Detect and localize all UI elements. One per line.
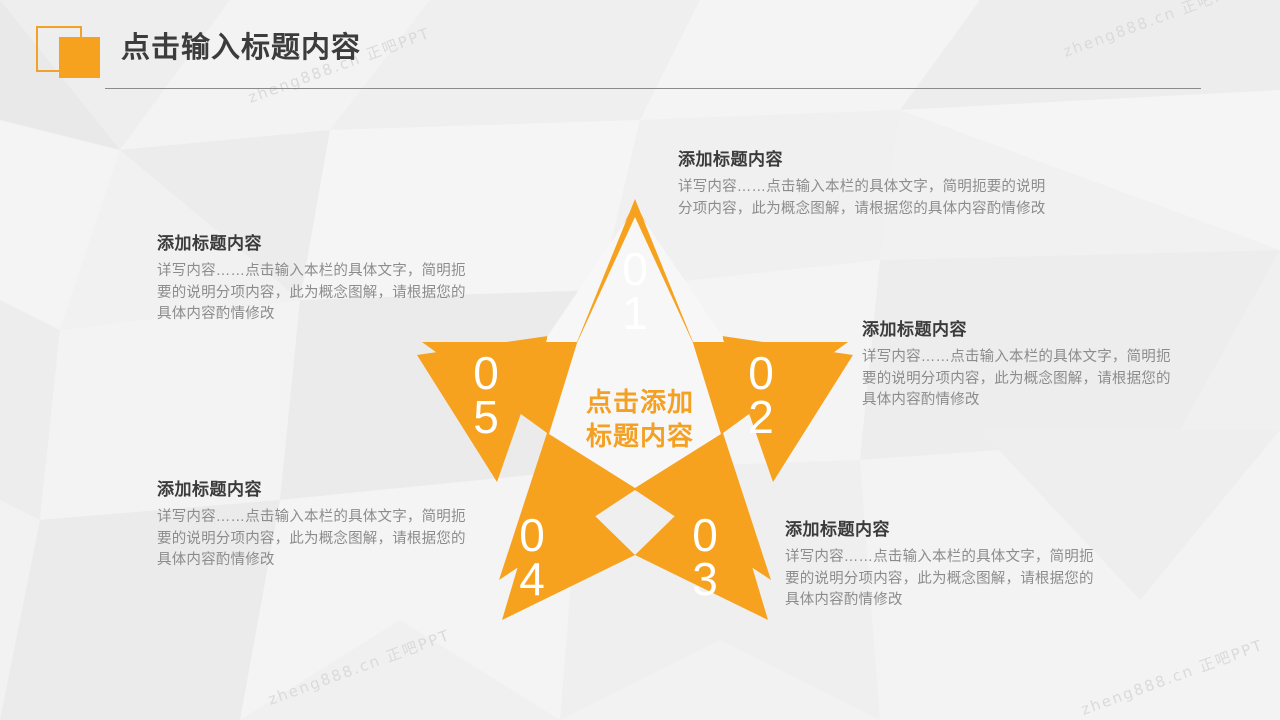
square-filled-icon (59, 37, 100, 78)
text-block-04: 添加标题内容 详写内容……点击输入本栏的具体文字，简明扼要的说明分项内容，此为概… (157, 478, 475, 572)
text-block-01: 添加标题内容 详写内容……点击输入本栏的具体文字，简明扼要的说明分项内容，此为概… (678, 148, 1056, 220)
block-title: 添加标题内容 (157, 478, 475, 502)
block-body: 详写内容……点击输入本栏的具体文字，简明扼要的说明分项内容，此为概念图解，请根据… (785, 547, 1103, 612)
text-block-02: 添加标题内容 详写内容……点击输入本栏的具体文字，简明扼要的说明分项内容，此为概… (862, 318, 1180, 412)
page-title: 点击输入标题内容 (121, 28, 361, 68)
block-title: 添加标题内容 (678, 148, 1056, 172)
text-block-05: 添加标题内容 详写内容……点击输入本栏的具体文字，简明扼要的说明分项内容，此为概… (157, 232, 475, 326)
block-title: 添加标题内容 (785, 518, 1103, 542)
block-title: 添加标题内容 (157, 232, 475, 256)
header-divider (105, 88, 1201, 89)
block-title: 添加标题内容 (862, 318, 1180, 342)
text-block-03: 添加标题内容 详写内容……点击输入本栏的具体文字，简明扼要的说明分项内容，此为概… (785, 518, 1103, 612)
block-body: 详写内容……点击输入本栏的具体文字，简明扼要的说明分项内容，此为概念图解，请根据… (157, 507, 475, 572)
center-title: 点击添加 标题内容 (540, 385, 740, 453)
slide-canvas: zheng888.cn 正吧PPT zheng888.cn 正吧PPT zhen… (0, 0, 1280, 720)
center-title-line1: 点击添加 (540, 385, 740, 419)
block-body: 详写内容……点击输入本栏的具体文字，简明扼要的说明分项内容，此为概念图解，请根据… (862, 347, 1180, 412)
block-body: 详写内容……点击输入本栏的具体文字，简明扼要的说明分项内容，此为概念图解，请根据… (678, 177, 1056, 220)
center-title-line2: 标题内容 (540, 419, 740, 453)
slide-header: 点击输入标题内容 (0, 0, 1280, 100)
block-body: 详写内容……点击输入本栏的具体文字，简明扼要的说明分项内容，此为概念图解，请根据… (157, 261, 475, 326)
